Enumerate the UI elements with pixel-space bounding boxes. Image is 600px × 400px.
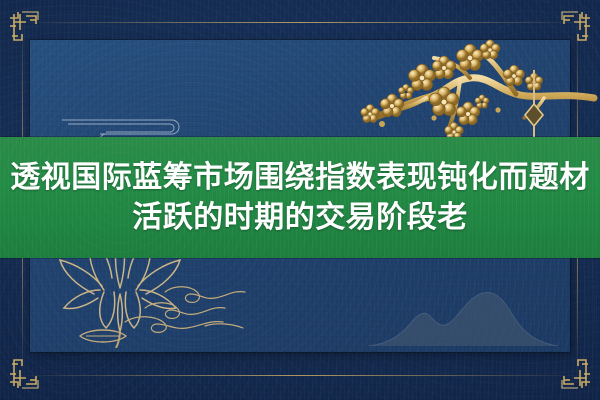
meander-corner-ornament-icon — [8, 336, 62, 390]
meander-corner-ornament-icon — [8, 10, 62, 64]
frame-line-bottom — [16, 375, 584, 376]
meander-corner-ornament-icon — [538, 336, 592, 390]
banner-image: 透视国际蓝筹市场围绕指数表现钝化而题材活跃的时期的交易阶段老 — [0, 0, 600, 400]
title-band: 透视国际蓝筹市场围绕指数表现钝化而题材活跃的时期的交易阶段老 — [0, 137, 600, 258]
frame-line-top — [16, 22, 584, 23]
meander-corner-ornament-icon — [538, 10, 592, 64]
page-title: 透视国际蓝筹市场围绕指数表现钝化而题材活跃的时期的交易阶段老 — [0, 158, 600, 238]
